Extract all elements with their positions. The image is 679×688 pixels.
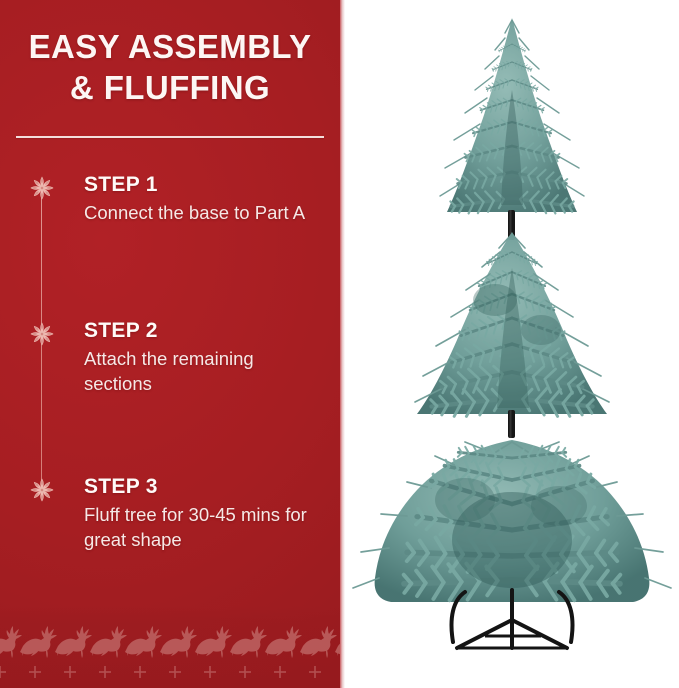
snowflake-icon [26, 474, 58, 506]
title-line-2: & FLUFFING [14, 67, 326, 108]
christmas-tree-illustration [345, 0, 679, 688]
step-title: STEP 2 [84, 318, 326, 344]
step-item: STEP 1 Connect the base to Part A [0, 172, 340, 225]
step-description: Attach the remaining sections [84, 346, 326, 396]
reindeer-pattern [0, 620, 340, 660]
plus-sparkle-pattern [0, 662, 340, 684]
promo-graphic: EASY ASSEMBLY & FLUFFING [0, 0, 679, 688]
step-title: STEP 3 [84, 474, 326, 500]
step-item: STEP 2 Attach the remaining sections [0, 318, 340, 396]
title-divider [16, 136, 324, 138]
snowflake-icon [26, 172, 58, 204]
instructions-panel: EASY ASSEMBLY & FLUFFING [0, 0, 340, 688]
snowflake-icon [26, 318, 58, 350]
step-description: Fluff tree for 30-45 mins for great shap… [84, 502, 326, 552]
step-title: STEP 1 [84, 172, 326, 198]
product-image [345, 0, 679, 688]
decorative-border [0, 606, 340, 688]
title-line-1: EASY ASSEMBLY [14, 26, 326, 67]
step-description: Connect the base to Part A [84, 200, 326, 225]
step-item: STEP 3 Fluff tree for 30-45 mins for gre… [0, 474, 340, 552]
page-title: EASY ASSEMBLY & FLUFFING [0, 26, 340, 108]
